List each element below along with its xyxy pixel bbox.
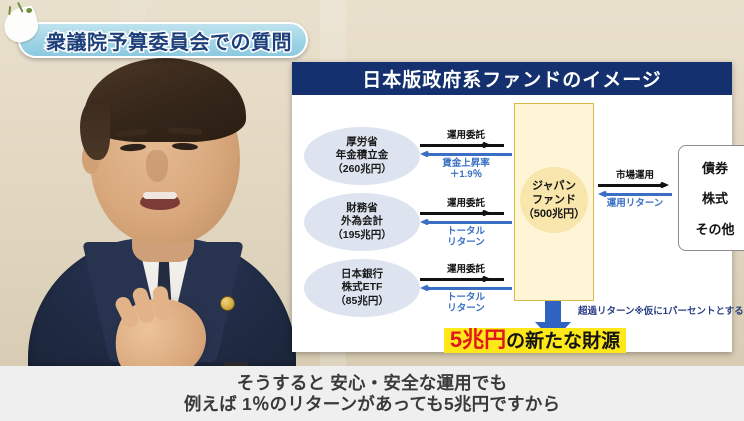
- source-line-3: （195兆円）: [332, 229, 392, 242]
- flow-in-label-2: リターン: [420, 238, 512, 249]
- lapel-pin-icon: [220, 296, 235, 311]
- asset-stocks: 株式: [702, 188, 728, 207]
- diagram-body: 厚労省 年金積立金 （260兆円） 財務省 外為会計 （195兆円） 日本銀行 …: [292, 95, 732, 352]
- diagram-panel: 日本版政府系ファンドのイメージ 厚労省 年金積立金 （260兆円） 財務省 外為…: [292, 62, 732, 352]
- flow-in-label: 賃金上昇率 ＋1.9％: [420, 159, 512, 181]
- fund-node: ジャパン ファンド （500兆円）: [520, 167, 588, 233]
- source-line-2: 外為会計: [341, 215, 383, 228]
- result-line: 5兆円 の新たな財源: [400, 327, 670, 353]
- flow-out-label: 運用委託: [420, 131, 512, 141]
- subtitle-line-1: そうすると 安心・安全な運用でも: [237, 373, 508, 393]
- fund-line-1: ジャパン: [532, 179, 576, 193]
- source-line-1: 日本銀行: [341, 268, 383, 281]
- diagram-title-bar: 日本版政府系ファンドのイメージ: [292, 62, 732, 95]
- teeth: [143, 192, 177, 199]
- source-node-pension: 厚労省 年金積立金 （260兆円）: [304, 127, 420, 185]
- nose: [146, 150, 168, 182]
- fund-line-3: （500兆円）: [523, 207, 585, 221]
- arrow-left-icon: [420, 219, 512, 226]
- hair-side: [80, 100, 110, 160]
- source-line-1: 厚労省: [346, 136, 378, 149]
- excess-return-note: 超過リターン※仮に1パーセントとすると: [578, 303, 744, 317]
- flow-arrows-boj: 運用委託 トータル リターン: [420, 265, 512, 315]
- result-rest: の新たな財源: [506, 332, 620, 351]
- flow-arrows-pension: 運用委託 賃金上昇率 ＋1.9％: [420, 131, 512, 181]
- flow-in-label-2: ＋1.9％: [420, 170, 512, 181]
- diagram-title: 日本版政府系ファンドのイメージ: [362, 65, 662, 92]
- asset-bonds: 債券: [702, 158, 728, 177]
- result-highlight: 5兆円 の新たな財源: [444, 328, 626, 353]
- screenshot-root: 衆議院予算委員会での質問 日本版政府系ファンドのイメージ 厚労省 年金積立金 （…: [0, 0, 744, 421]
- flow-arrows-forex: 運用委託 トータル リターン: [420, 199, 512, 249]
- market-in-label: 運用リターン: [598, 199, 672, 210]
- asset-other: その他: [695, 219, 734, 238]
- arrow-left-icon: [420, 151, 512, 158]
- flow-out-label: 運用委託: [420, 265, 512, 275]
- subtitle-line-2: 例えば 1％のリターンがあっても5兆円ですから: [184, 394, 560, 414]
- flow-out-label: 運用委託: [420, 199, 512, 209]
- source-line-2: 年金積立金: [336, 149, 389, 162]
- result-amount: 5兆円: [450, 329, 506, 351]
- arrow-right-icon: [420, 276, 512, 283]
- arrow-left-icon: [420, 285, 512, 292]
- flow-in-label: トータル リターン: [420, 293, 512, 315]
- speaker-photo: [28, 46, 296, 366]
- flow-in-label: トータル リターン: [420, 227, 512, 249]
- program-title-text: 衆議院予算委員会での質問: [46, 26, 292, 55]
- source-line-2: 株式ETF: [342, 281, 383, 294]
- source-line-1: 財務省: [346, 202, 378, 215]
- source-node-forex: 財務省 外為会計 （195兆円）: [304, 193, 420, 251]
- subtitle-bar: そうすると 安心・安全な運用でも 例えば 1％のリターンがあっても5兆円ですから: [0, 366, 744, 421]
- fund-line-2: ファンド: [532, 193, 576, 207]
- source-line-3: （85兆円）: [335, 295, 389, 308]
- arrow-right-icon: [598, 182, 672, 189]
- source-node-boj-etf: 日本銀行 株式ETF （85兆円）: [304, 259, 420, 317]
- flow-arrows-market: 市場運用 運用リターン: [598, 171, 672, 210]
- destination-assets-box: 債券 株式 その他: [678, 145, 744, 251]
- source-line-3: （260兆円）: [332, 163, 392, 176]
- arrow-right-icon: [420, 142, 512, 149]
- arrow-left-icon: [598, 191, 672, 198]
- arrow-right-icon: [420, 210, 512, 217]
- flow-in-label-2: リターン: [420, 304, 512, 315]
- market-out-label: 市場運用: [598, 171, 672, 181]
- program-title-badge: 衆議院予算委員会での質問: [18, 22, 308, 58]
